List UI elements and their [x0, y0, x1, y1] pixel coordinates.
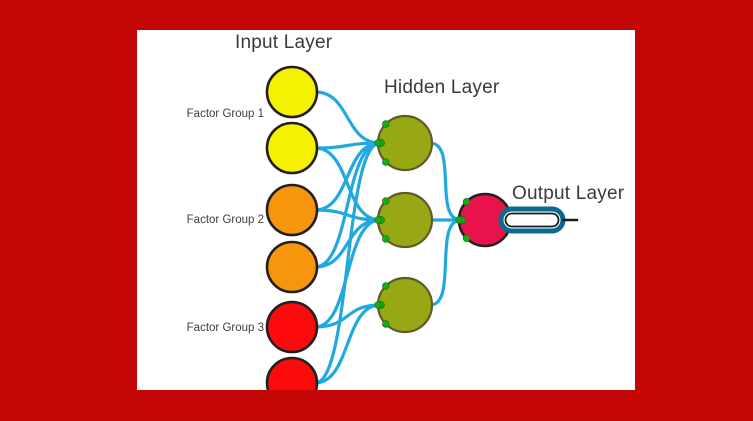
input-node-i6 — [267, 358, 317, 390]
edge-i1-h1 — [315, 92, 380, 143]
output-terminal-inner — [506, 214, 559, 227]
connection-port — [382, 159, 389, 166]
input-layer-title: Input Layer — [235, 32, 332, 54]
hidden-layer-title: Hidden Layer — [384, 77, 499, 99]
input-node-i5 — [267, 302, 317, 352]
edge-h1-o1 — [430, 143, 461, 220]
factor-group-1-label: Factor Group 1 — [144, 108, 264, 120]
input-node-i4 — [267, 242, 317, 292]
nodes-group — [267, 67, 511, 390]
factor-group-3-label: Factor Group 3 — [144, 322, 264, 334]
connection-port — [382, 236, 389, 243]
factor-group-2-label: Factor Group 2 — [144, 214, 264, 226]
connection-port — [382, 321, 389, 328]
connection-port — [375, 140, 382, 147]
connection-port — [375, 217, 382, 224]
connection-port — [375, 302, 382, 309]
edge-i4-h1 — [315, 143, 380, 267]
diagram-canvas: Input Layer Hidden Layer Output Layer Fa… — [137, 30, 635, 390]
output-terminal — [501, 209, 577, 231]
connection-port — [456, 217, 463, 224]
connection-port — [382, 198, 389, 205]
input-node-i1 — [267, 67, 317, 117]
slide-stage: Input Layer Hidden Layer Output Layer Fa… — [0, 0, 753, 421]
input-node-i2 — [267, 123, 317, 173]
edge-h3-o1 — [430, 220, 461, 305]
connection-port — [463, 198, 470, 205]
connection-port — [382, 121, 389, 128]
output-layer-title: Output Layer — [512, 183, 624, 205]
connection-port — [463, 235, 470, 242]
input-node-i3 — [267, 185, 317, 235]
connection-port — [382, 283, 389, 290]
